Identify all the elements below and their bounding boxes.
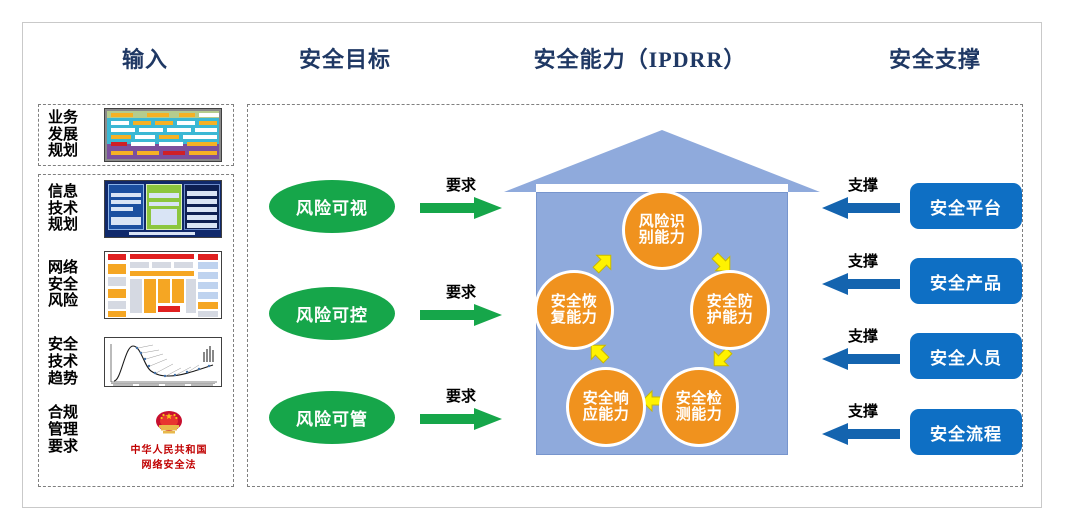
support-arrow-3: 支撑 [822, 327, 904, 373]
capability-label: 安全恢 复能力 [551, 294, 598, 327]
column-header-capability-en: （IPDRR） [626, 47, 747, 72]
capability-circle-recover[interactable]: 安全恢 复能力 [534, 270, 614, 350]
support-label: 安全产品 [930, 269, 1002, 294]
blue-arrow-icon [822, 273, 900, 295]
support-arrow-4: 支撑 [822, 402, 904, 448]
input-item-security-risk[interactable]: 网络 安全 风险 [48, 251, 222, 319]
business-plan-diagram-thumbnail [104, 108, 222, 162]
green-arrow-icon [420, 408, 502, 430]
input-item-compliance[interactable]: 合规 管理 要求 [48, 405, 104, 455]
column-header-capability: 安全能力（IPDRR） [470, 42, 810, 74]
national-emblem-icon [152, 408, 186, 438]
cycle-arrow-recover-to-identify-icon [590, 250, 616, 276]
hype-cycle-curve-thumbnail [104, 337, 222, 387]
support-box-personnel[interactable]: 安全人员 [910, 333, 1022, 379]
support-box-process[interactable]: 安全流程 [910, 409, 1022, 455]
requirement-arrow-label: 要求 [418, 281, 504, 302]
hype-cycle-svg [107, 340, 221, 386]
requirement-arrow-1: 要求 [418, 176, 504, 222]
capability-house: 风险识 别能力 安全防 护能力 安全检 测能力 安全响 应能力 安全恢 复能力 [504, 130, 820, 455]
diagram-canvas: 输入 安全目标 安全能力（IPDRR） 安全支撑 业务 发展 规划 [0, 0, 1080, 529]
it-plan-diagram-thumbnail [104, 180, 222, 238]
input-item-label: 安全 技术 趋势 [48, 337, 104, 387]
input-item-label: 业务 发展 规划 [48, 110, 104, 160]
requirement-arrow-3: 要求 [418, 387, 504, 433]
column-header-capability-cn: 安全能力 [534, 47, 626, 72]
green-arrow-icon [420, 304, 502, 326]
requirement-arrow-label: 要求 [418, 174, 504, 195]
goal-ellipse-risk-controllable[interactable]: 风险可控 [269, 287, 395, 340]
goal-ellipse-risk-manageable[interactable]: 风险可管 [269, 391, 395, 444]
support-arrow-label: 支撑 [822, 400, 904, 421]
input-item-label: 合规 管理 要求 [48, 405, 104, 455]
capability-label: 风险识 别能力 [639, 214, 686, 247]
requirement-arrow-2: 要求 [418, 283, 504, 329]
support-arrow-label: 支撑 [822, 250, 904, 271]
capability-label: 安全防 护能力 [707, 294, 754, 327]
column-header-support: 安全支撑 [845, 42, 1025, 74]
blue-arrow-icon [822, 197, 900, 219]
security-risk-matrix-thumbnail [104, 251, 222, 319]
input-item-it-plan[interactable]: 信息 技术 规划 [48, 180, 222, 238]
support-arrow-label: 支撑 [822, 325, 904, 346]
input-item-business-plan[interactable]: 业务 发展 规划 [48, 108, 222, 162]
column-header-input: 输入 [60, 42, 230, 74]
capability-label: 安全响 应能力 [583, 391, 630, 424]
support-box-platform[interactable]: 安全平台 [910, 183, 1022, 229]
column-header-goal: 安全目标 [245, 42, 445, 74]
support-label: 安全人员 [930, 344, 1002, 369]
support-label: 安全流程 [930, 420, 1002, 445]
goal-label: 风险可管 [296, 405, 368, 430]
capability-label: 安全检 测能力 [676, 391, 723, 424]
cybersecurity-law-cover[interactable]: 中华人民共和国 网络安全法 [110, 408, 228, 473]
blue-arrow-icon [822, 348, 900, 370]
blue-arrow-icon [822, 423, 900, 445]
capability-circle-respond[interactable]: 安全响 应能力 [566, 367, 646, 447]
support-box-product[interactable]: 安全产品 [910, 258, 1022, 304]
support-label: 安全平台 [930, 194, 1002, 219]
support-arrow-label: 支撑 [822, 174, 904, 195]
green-arrow-icon [420, 197, 502, 219]
goal-label: 风险可控 [296, 301, 368, 326]
goal-ellipse-risk-visible[interactable]: 风险可视 [269, 180, 395, 233]
input-item-label: 网络 安全 风险 [48, 260, 104, 310]
goal-label: 风险可视 [296, 194, 368, 219]
capability-circle-protect[interactable]: 安全防 护能力 [690, 270, 770, 350]
house-roof-shape [504, 130, 820, 194]
requirement-arrow-label: 要求 [418, 385, 504, 406]
input-item-label: 信息 技术 规划 [48, 184, 104, 234]
support-arrow-1: 支撑 [822, 176, 904, 222]
cybersecurity-law-title: 中华人民共和国 网络安全法 [110, 444, 228, 473]
capability-circle-detect[interactable]: 安全检 测能力 [659, 367, 739, 447]
support-arrow-2: 支撑 [822, 252, 904, 298]
input-item-tech-trend[interactable]: 安全 技术 趋势 [48, 337, 222, 387]
capability-circle-identify[interactable]: 风险识 别能力 [622, 190, 702, 270]
